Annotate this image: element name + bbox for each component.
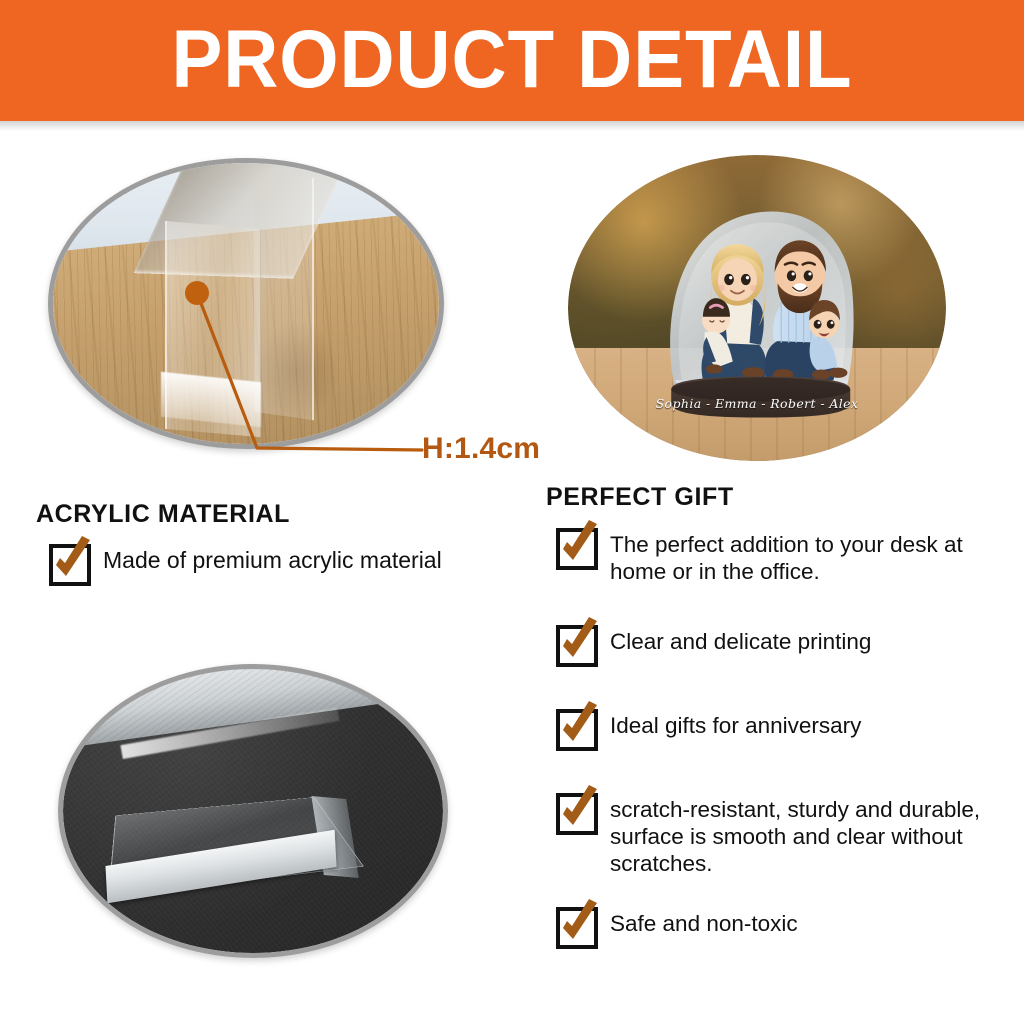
- checkmark-icon: [551, 709, 591, 749]
- acrylic-block-photo-inner: [63, 669, 443, 953]
- banner-shadow: [0, 121, 1024, 131]
- feature-text: Clear and delicate printing: [591, 623, 871, 655]
- page-title: PRODUCT DETAIL: [36, 10, 988, 110]
- feature-text: Ideal gifts for anniversary: [591, 707, 861, 739]
- feature-text: The perfect addition to your desk at hom…: [591, 526, 1001, 585]
- section-heading-perfect-gift: PERFECT GIFT: [546, 483, 734, 512]
- feature-item: Ideal gifts for anniversary: [551, 707, 1001, 749]
- header-banner: PRODUCT DETAIL: [0, 0, 1024, 121]
- feature-item: Safe and non-toxic: [551, 905, 1001, 947]
- dimension-label: H:1.4cm: [422, 432, 540, 466]
- feature-item: Made of premium acrylic material: [44, 542, 514, 584]
- checkmark-icon: [44, 544, 84, 584]
- figurine-name-plate: Sophia - Emma - Robert - Alex: [568, 396, 946, 411]
- checkmark-icon: [551, 793, 591, 833]
- checkmark-icon: [551, 625, 591, 665]
- family-figurine-photo-inner: Sophia - Emma - Robert - Alex: [568, 155, 946, 461]
- feature-text: Made of premium acrylic material: [84, 542, 442, 574]
- acrylic-slab-side-face: [254, 170, 314, 420]
- feature-item: The perfect addition to your desk at hom…: [551, 526, 1001, 585]
- feature-text: Safe and non-toxic: [591, 905, 798, 937]
- acrylic-edge-photo-inner: [53, 163, 439, 444]
- feature-item: scratch-resistant, sturdy and durable, s…: [551, 791, 1001, 877]
- acrylic-block-photo: [58, 664, 448, 958]
- checkmark-icon: [551, 907, 591, 947]
- acrylic-edge-photo: [48, 158, 444, 449]
- checkmark-icon: [551, 528, 591, 568]
- feature-text: scratch-resistant, sturdy and durable, s…: [591, 791, 1001, 877]
- family-figurine-photo: Sophia - Emma - Robert - Alex: [568, 155, 946, 461]
- feature-item: Clear and delicate printing: [551, 623, 1001, 665]
- section-heading-acrylic-material: ACRYLIC MATERIAL: [36, 500, 290, 529]
